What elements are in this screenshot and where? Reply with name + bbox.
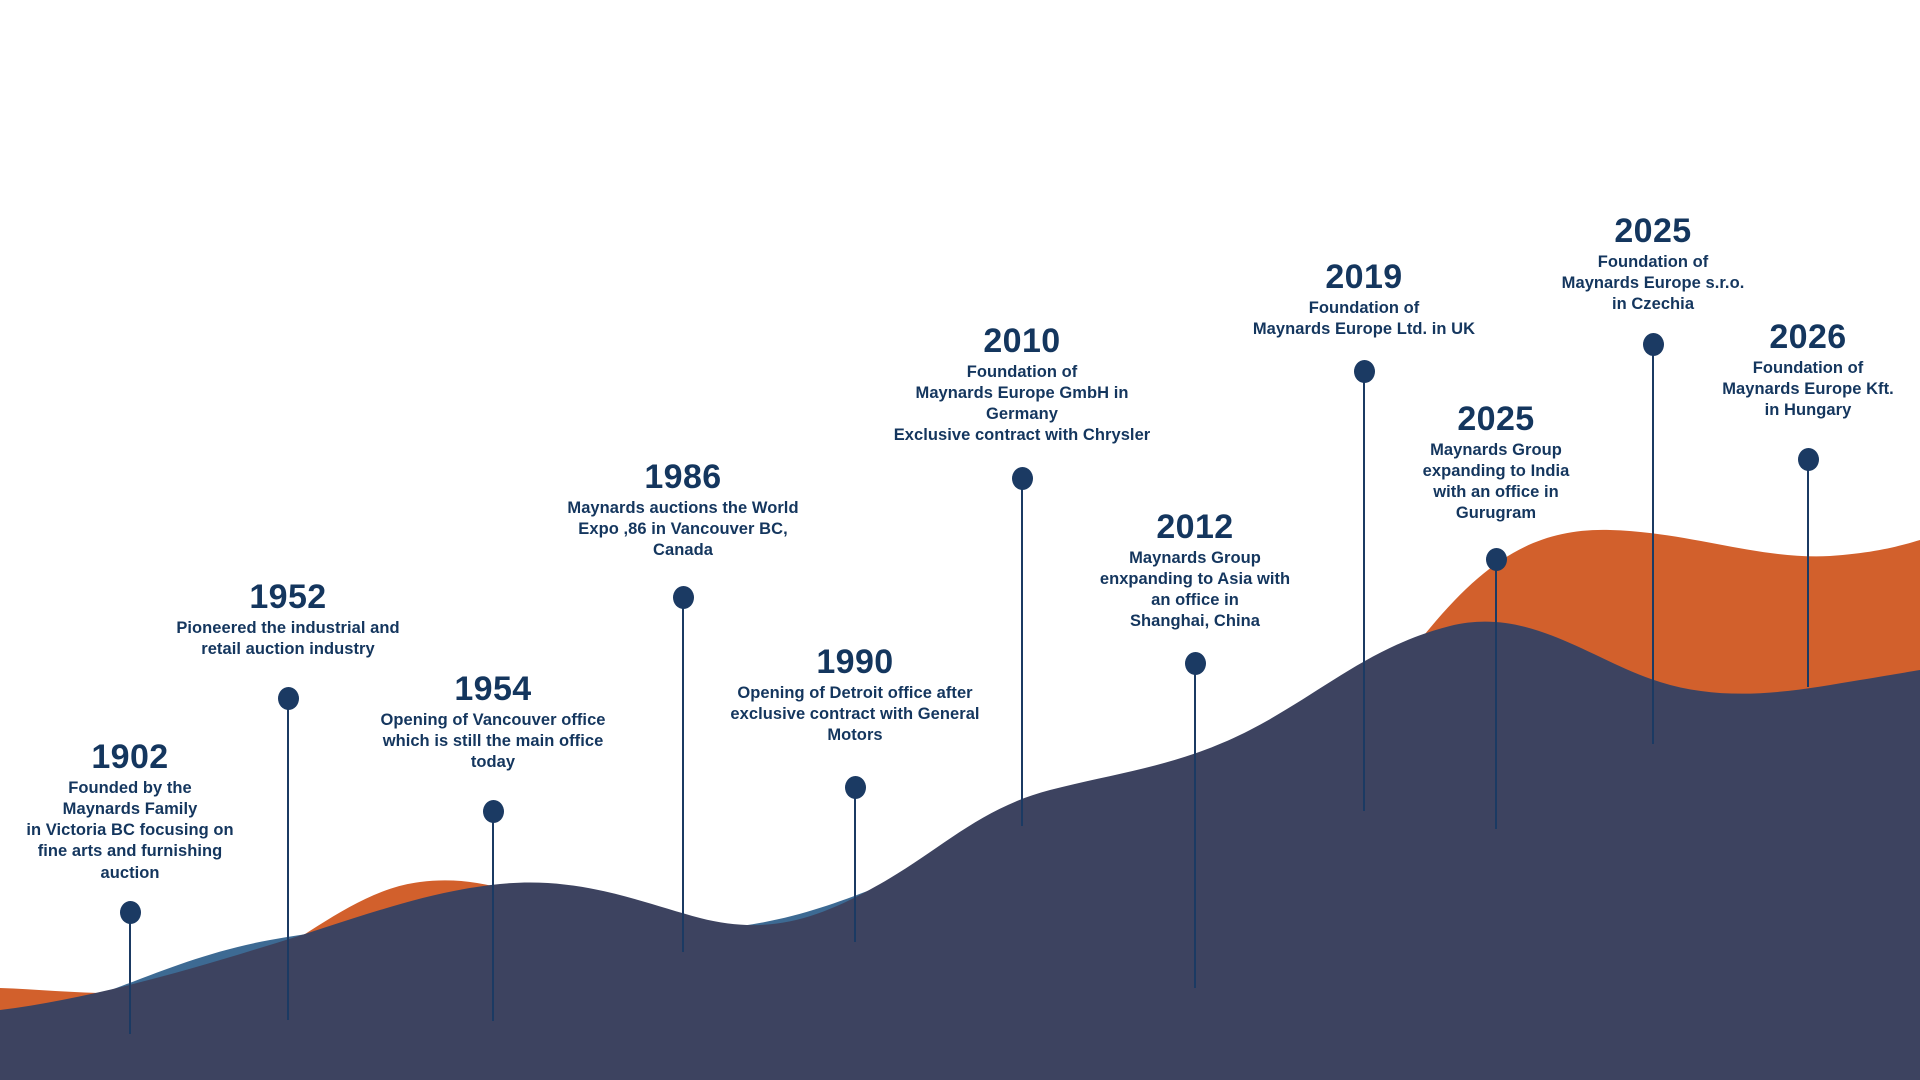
event-year: 1990 bbox=[708, 643, 1002, 681]
event-description: Founded by the Maynards Family in Victor… bbox=[12, 778, 248, 884]
marker-dot[interactable] bbox=[120, 901, 141, 924]
event-label-1952: 1952 Pioneered the industrial and retail… bbox=[153, 578, 423, 660]
marker-dot[interactable] bbox=[1486, 548, 1507, 571]
event-year: 1986 bbox=[539, 458, 827, 496]
marker-dot[interactable] bbox=[1012, 467, 1033, 490]
marker-dot[interactable] bbox=[1643, 333, 1664, 356]
marker-stem bbox=[1652, 354, 1654, 744]
event-year: 2012 bbox=[1077, 508, 1313, 546]
event-description: Pioneered the industrial and retail auct… bbox=[153, 618, 423, 660]
marker-stem bbox=[854, 797, 856, 942]
timeline-markers: 1902 Founded by the Maynards Family in V… bbox=[0, 0, 1920, 1080]
event-year: 1954 bbox=[361, 670, 625, 708]
event-label-2025-india: 2025 Maynards Group expanding to India w… bbox=[1393, 400, 1599, 525]
marker-stem bbox=[129, 922, 131, 1034]
marker-stem bbox=[682, 607, 684, 952]
event-description: Maynards Group enxpanding to Asia with a… bbox=[1077, 548, 1313, 632]
marker-dot[interactable] bbox=[845, 776, 866, 799]
event-description: Foundation of Maynards Europe s.r.o. in … bbox=[1521, 252, 1785, 315]
marker-dot[interactable] bbox=[1354, 360, 1375, 383]
marker-stem bbox=[1495, 569, 1497, 829]
marker-stem bbox=[1021, 488, 1023, 826]
event-year: 2025 bbox=[1521, 212, 1785, 250]
marker-dot[interactable] bbox=[483, 800, 504, 823]
event-label-2019: 2019 Foundation of Maynards Europe Ltd. … bbox=[1221, 258, 1507, 340]
marker-stem bbox=[1194, 673, 1196, 988]
event-year: 1952 bbox=[153, 578, 423, 616]
event-year: 2010 bbox=[870, 322, 1174, 360]
event-label-1902: 1902 Founded by the Maynards Family in V… bbox=[12, 738, 248, 884]
marker-dot[interactable] bbox=[1798, 448, 1819, 471]
event-description: Foundation of Maynards Europe Ltd. in UK bbox=[1221, 298, 1507, 340]
event-description: Foundation of Maynards Europe Kft. in Hu… bbox=[1690, 358, 1920, 421]
marker-stem bbox=[1807, 469, 1809, 687]
event-description: Opening of Detroit office after exclusiv… bbox=[708, 683, 1002, 746]
marker-stem bbox=[1363, 381, 1365, 811]
event-year: 2025 bbox=[1393, 400, 1599, 438]
marker-dot[interactable] bbox=[278, 687, 299, 710]
event-label-2025-czechia: 2025 Foundation of Maynards Europe s.r.o… bbox=[1521, 212, 1785, 315]
marker-dot[interactable] bbox=[1185, 652, 1206, 675]
event-label-1954: 1954 Opening of Vancouver office which i… bbox=[361, 670, 625, 773]
marker-dot[interactable] bbox=[673, 586, 694, 609]
timeline-infographic: 1902 Founded by the Maynards Family in V… bbox=[0, 0, 1920, 1080]
event-year: 2019 bbox=[1221, 258, 1507, 296]
event-year: 1902 bbox=[12, 738, 248, 776]
event-description: Maynards auctions the World Expo ,86 in … bbox=[539, 498, 827, 561]
marker-stem bbox=[287, 708, 289, 1020]
marker-stem bbox=[492, 821, 494, 1021]
event-label-2010: 2010 Foundation of Maynards Europe GmbH … bbox=[870, 322, 1174, 447]
event-label-2012: 2012 Maynards Group enxpanding to Asia w… bbox=[1077, 508, 1313, 633]
event-description: Maynards Group expanding to India with a… bbox=[1393, 440, 1599, 524]
event-description: Opening of Vancouver office which is sti… bbox=[361, 710, 625, 773]
event-year: 2026 bbox=[1690, 318, 1920, 356]
event-label-2026: 2026 Foundation of Maynards Europe Kft. … bbox=[1690, 318, 1920, 421]
event-label-1990: 1990 Opening of Detroit office after exc… bbox=[708, 643, 1002, 746]
event-label-1986: 1986 Maynards auctions the World Expo ,8… bbox=[539, 458, 827, 561]
event-description: Foundation of Maynards Europe GmbH in Ge… bbox=[870, 362, 1174, 446]
